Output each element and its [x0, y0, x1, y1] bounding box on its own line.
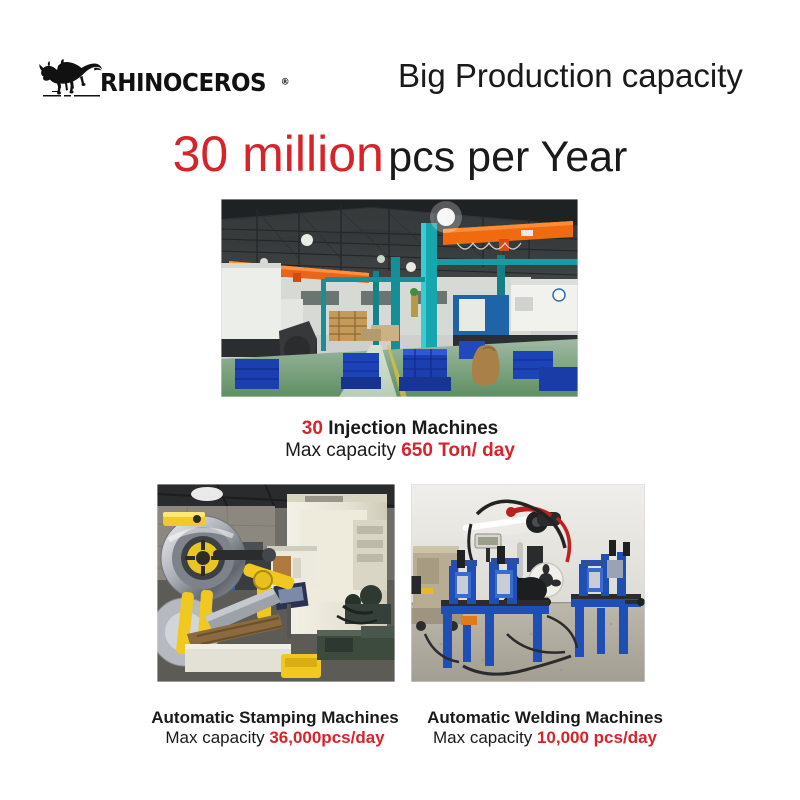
caption-stamping-prefix: Max capacity — [165, 728, 264, 747]
headline-rest: pcs per Year — [388, 133, 627, 181]
caption-factory-line1: 30 Injection Machines — [0, 418, 800, 440]
caption-welding-line1: Automatic Welding Machines — [400, 708, 690, 728]
caption-stamping: Automatic Stamping Machines Max capacity… — [130, 708, 420, 748]
welding-machine-photo — [411, 484, 645, 682]
brand-wordmark-text: RHINOCEROS — [100, 70, 266, 95]
registered-mark: ® — [281, 78, 290, 88]
caption-factory-count: 30 — [302, 418, 323, 439]
caption-welding-line2: Max capacity 10,000 pcs/day — [400, 728, 690, 748]
brand-logo: RHINOCEROS® — [38, 52, 290, 98]
headline-highlight: 30 million — [173, 126, 384, 182]
caption-welding: Automatic Welding Machines Max capacity … — [400, 708, 690, 748]
caption-factory-prefix: Max capacity — [285, 440, 396, 461]
caption-welding-prefix: Max capacity — [433, 728, 532, 747]
caption-factory-label: Injection Machines — [328, 418, 498, 439]
caption-factory: 30 Injection Machines Max capacity 650 T… — [0, 418, 800, 463]
brand-wordmark: RHINOCEROS® — [100, 70, 290, 96]
rhinoceros-icon — [38, 52, 104, 98]
poster-canvas: RHINOCEROS® Big Production capacity 30 m… — [0, 0, 800, 800]
caption-stamping-line1: Automatic Stamping Machines — [130, 708, 420, 728]
stamping-machine-photo — [157, 484, 395, 682]
caption-stamping-line2: Max capacity 36,000pcs/day — [130, 728, 420, 748]
factory-interior-photo — [221, 199, 578, 397]
caption-stamping-value: 36,000pcs/day — [269, 728, 384, 747]
caption-factory-value: 650 Ton/ day — [401, 440, 515, 461]
caption-welding-value: 10,000 pcs/day — [537, 728, 657, 747]
caption-factory-line2: Max capacity 650 Ton/ day — [0, 440, 800, 462]
headline: 30 million pcs per Year — [0, 125, 800, 183]
page-title: Big Production capacity — [398, 57, 743, 95]
